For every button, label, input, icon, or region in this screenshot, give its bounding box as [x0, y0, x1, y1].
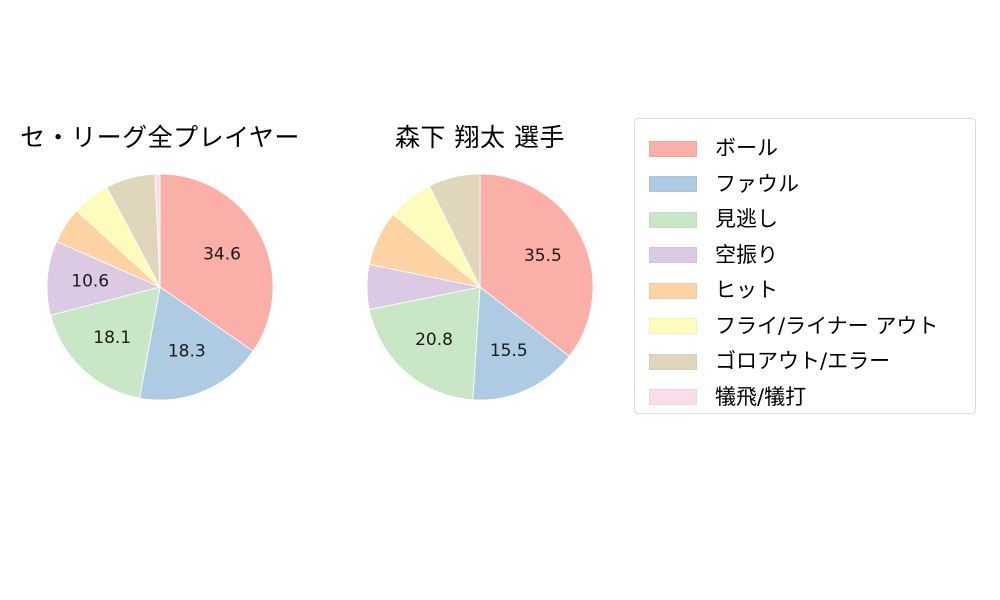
- chart-legend: ボールファウル見逃し空振りヒットフライ/ライナー アウトゴロアウト/エラー犠飛/…: [634, 118, 976, 414]
- legend-item[interactable]: ボール: [649, 131, 961, 167]
- legend-item-label: 見逃し: [715, 209, 778, 230]
- pie-svg-league: 34.618.318.110.6: [45, 172, 275, 402]
- pie-slice-label: 34.6: [203, 244, 241, 264]
- legend-item[interactable]: 空振り: [649, 238, 961, 274]
- legend-item-label: ヒット: [715, 280, 778, 301]
- pie-panel-player: 森下 翔太 選手 35.515.520.8: [320, 100, 640, 430]
- legend-item-label: 空振り: [715, 245, 778, 266]
- pie-slice-label: 18.3: [168, 342, 206, 362]
- pie-title-league: セ・リーグ全プレイヤー: [0, 118, 320, 154]
- legend-swatch-icon: [649, 318, 697, 334]
- pie-svg-player: 35.515.520.8: [365, 172, 595, 402]
- legend-item-label: ボール: [715, 138, 778, 159]
- pie-slice-label: 10.6: [71, 271, 109, 291]
- legend-swatch-icon: [649, 212, 697, 228]
- pie-chart-league: 34.618.318.110.6: [45, 172, 275, 402]
- legend-swatch-icon: [649, 283, 697, 299]
- legend-item-label: フライ/ライナー アウト: [715, 316, 938, 337]
- legend-item[interactable]: ファウル: [649, 167, 961, 203]
- pie-chart-figure: セ・リーグ全プレイヤー 34.618.318.110.6 森下 翔太 選手 35…: [0, 0, 1000, 600]
- pie-chart-player: 35.515.520.8: [365, 172, 595, 402]
- legend-swatch-icon: [649, 354, 697, 370]
- legend-item-label: ファウル: [715, 174, 799, 195]
- legend-swatch-icon: [649, 141, 697, 157]
- legend-swatch-icon: [649, 247, 697, 263]
- pie-slice-label: 35.5: [524, 246, 562, 266]
- legend-swatch-icon: [649, 389, 697, 405]
- legend-item-label: ゴロアウト/エラー: [715, 351, 890, 372]
- legend-item[interactable]: 犠飛/犠打: [649, 380, 961, 416]
- legend-item-label: 犠飛/犠打: [715, 387, 806, 408]
- pie-title-player: 森下 翔太 選手: [320, 118, 640, 154]
- legend-swatch-icon: [649, 176, 697, 192]
- pie-slice-label: 20.8: [415, 330, 453, 350]
- pie-slice-label: 18.1: [93, 328, 131, 348]
- legend-item[interactable]: ヒット: [649, 273, 961, 309]
- pie-slice-label: 15.5: [490, 341, 528, 361]
- legend-item[interactable]: 見逃し: [649, 202, 961, 238]
- legend-item[interactable]: フライ/ライナー アウト: [649, 309, 961, 345]
- legend-item[interactable]: ゴロアウト/エラー: [649, 344, 961, 380]
- pie-panel-league: セ・リーグ全プレイヤー 34.618.318.110.6: [0, 100, 320, 430]
